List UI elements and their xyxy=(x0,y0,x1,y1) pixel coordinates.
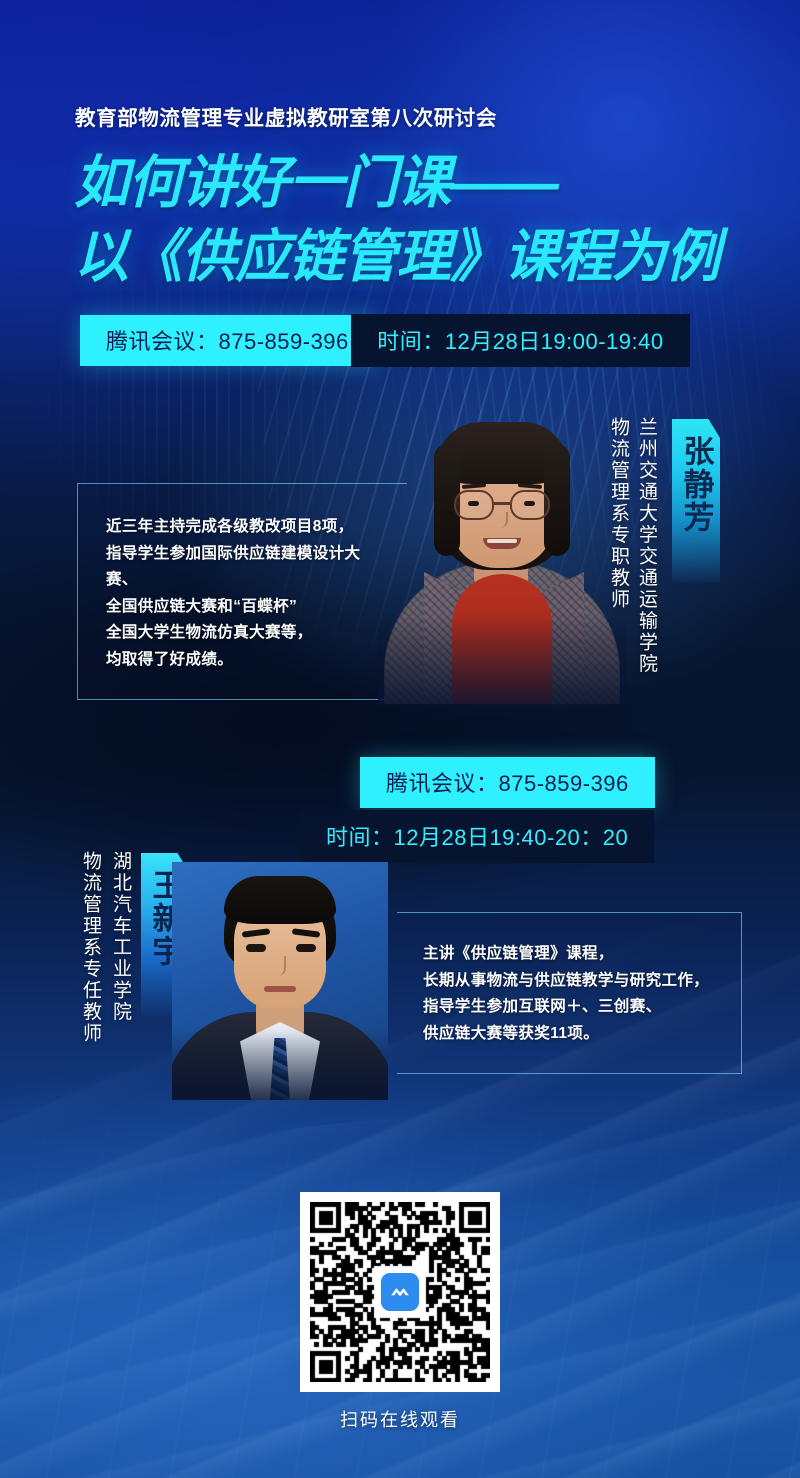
page-title-line-2: 以《供应链管理》课程为例 xyxy=(74,224,746,290)
speaker-1-organization: 兰州交通大学交通运输学院 xyxy=(636,417,656,675)
speaker-1-bio-line: 全国供应链大赛和“百蝶杯” xyxy=(106,594,381,621)
speaker-2-department: 物流管理系专任教师 xyxy=(80,851,100,1045)
speaker-1-portrait xyxy=(378,404,626,704)
speaker-2-bio-line: 供应链大赛等获奖11项。 xyxy=(423,1021,715,1048)
speaker-2-bio-box: 主讲《供应链管理》课程， 长期从事物流与供应链教学与研究工作， 指导学生参加互联… xyxy=(397,912,742,1074)
page-title: 如何讲好一门课—— 以《供应链管理》课程为例 xyxy=(74,150,774,290)
speaker-1-bio-line: 近三年主持完成各级教改项目8项， xyxy=(106,514,381,541)
speaker-1-department: 物流管理系专职教师 xyxy=(608,417,628,611)
session-2-time: 时间：12月28日19:40-20：20 xyxy=(300,810,654,863)
speaker-1-bio-line: 全国大学生物流仿真大赛等， xyxy=(106,620,381,647)
speaker-1-bio-line: 均取得了好成绩。 xyxy=(106,647,381,674)
event-kicker: 教育部物流管理专业虚拟教研室第八次研讨会 xyxy=(75,101,497,131)
session-1-info: 腾讯会议：875-859-396 时间：12月28日19:00-19:40 xyxy=(80,312,690,367)
qr-section: 扫码在线观看 xyxy=(300,1192,500,1432)
session-2-info: 腾讯会议：875-859-396 时间：12月28日19:40-20：20 xyxy=(360,757,800,863)
speaker-2-portrait xyxy=(172,862,388,1100)
speaker-2-organization: 湖北汽车工业学院 xyxy=(110,851,130,1023)
seminar-poster: 教育部物流管理专业虚拟教研室第八次研讨会 如何讲好一门课—— 以《供应链管理》课… xyxy=(0,0,800,1478)
page-title-line-1: 如何讲好一门课—— xyxy=(74,150,746,216)
speaker-2-bio-line: 指导学生参加互联网＋、三创赛、 xyxy=(423,994,715,1021)
qr-code[interactable] xyxy=(300,1192,500,1392)
qr-caption: 扫码在线观看 xyxy=(300,1406,500,1432)
session-1-meeting-id[interactable]: 腾讯会议：875-859-396 xyxy=(80,315,375,366)
session-2-meeting-id[interactable]: 腾讯会议：875-859-396 xyxy=(360,757,655,808)
speaker-1-name-tag: 张静芳 xyxy=(672,419,720,583)
session-1-time: 时间：12月28日19:00-19:40 xyxy=(351,314,689,367)
speaker-1-name: 张静芳 xyxy=(681,435,712,534)
speaker-1-bio-text: 近三年主持完成各级教改项目8项， 指导学生参加国际供应链建模设计大赛、 全国供应… xyxy=(78,484,407,699)
speaker-2-bio-line: 长期从事物流与供应链教学与研究工作， xyxy=(423,968,715,995)
speaker-2-bio-line: 主讲《供应链管理》课程， xyxy=(423,941,715,968)
speaker-2-bio-text: 主讲《供应链管理》课程， 长期从事物流与供应链教学与研究工作， 指导学生参加互联… xyxy=(397,913,741,1073)
speaker-1-bio-box: 近三年主持完成各级教改项目8项， 指导学生参加国际供应链建模设计大赛、 全国供应… xyxy=(77,483,407,700)
speaker-1-bio-line: 指导学生参加国际供应链建模设计大赛、 xyxy=(106,541,381,594)
tencent-meeting-logo-icon xyxy=(381,1273,419,1311)
